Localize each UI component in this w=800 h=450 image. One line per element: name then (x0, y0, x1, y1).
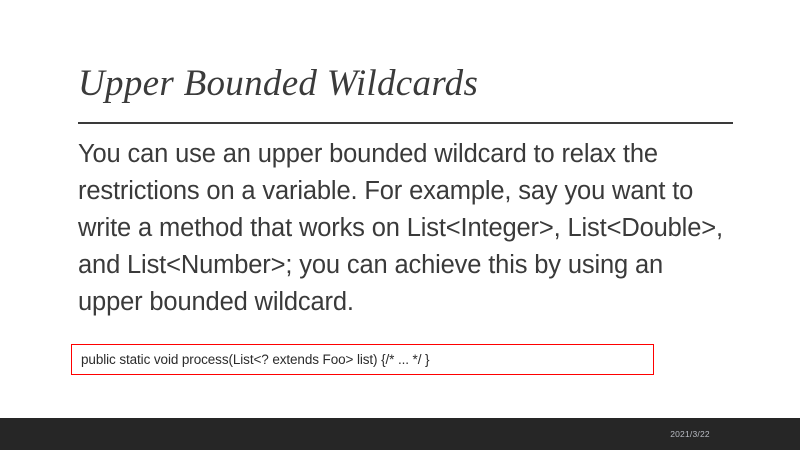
footer-date: 2021/3/22 (0, 418, 800, 450)
title-divider (78, 122, 733, 124)
code-snippet-text: public static void process(List<? extend… (81, 352, 429, 368)
footer-bar: 2021/3/22 (0, 418, 800, 450)
page-title: Upper Bounded Wildcards (78, 62, 738, 106)
slide-body-text: You can use an upper bounded wildcard to… (78, 136, 723, 321)
slide-canvas: Upper Bounded Wildcards You can use an u… (0, 0, 800, 450)
code-snippet-box: public static void process(List<? extend… (71, 344, 654, 375)
